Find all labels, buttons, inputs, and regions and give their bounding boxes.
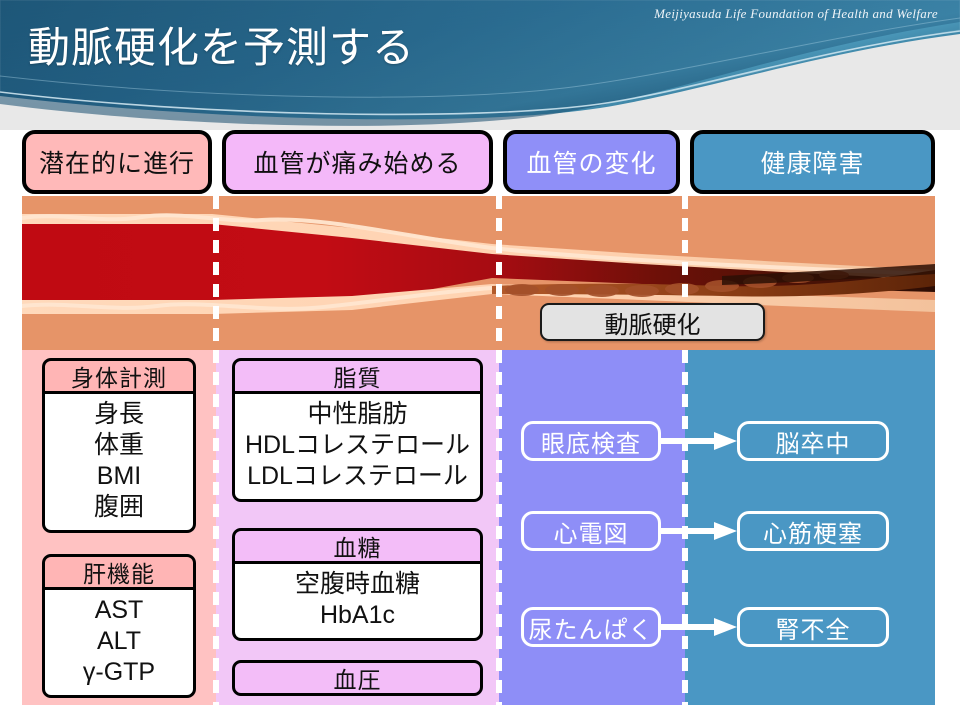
slide: 動脈硬化を予測する Meijiyasuda Life Foundation of… [0, 0, 960, 720]
group-title-body-measurement: 身体計測 [42, 358, 196, 394]
phase-divider-2 [496, 196, 502, 705]
group-body-measurement: 身体計測 身長 体重 BMI 腹囲 [42, 358, 196, 533]
page-title: 動脈硬化を予測する [28, 22, 415, 74]
group-blood-pressure: 血圧 [232, 660, 483, 696]
group-title-liver-function: 肝機能 [42, 554, 196, 590]
phase-box-health-damage[interactable]: 健康障害 [690, 130, 935, 194]
arrow-fundus-to-stroke [660, 429, 738, 453]
test-pill-urine-protein[interactable]: 尿たんぱく [521, 607, 661, 647]
organization-logo-text: Meijiyasuda Life Foundation of Health an… [654, 6, 938, 22]
disease-pill-renal-failure[interactable]: 腎不全 [737, 607, 889, 647]
phase-box-latent-progress[interactable]: 潜在的に進行 [22, 130, 212, 194]
arrow-ecg-to-infarction [660, 519, 738, 543]
phase-box-vessel-damage[interactable]: 血管が痛み始める [222, 130, 493, 194]
group-title-blood-pressure: 血圧 [232, 660, 483, 696]
group-items-lipids: 中性脂肪 HDLコレステロール LDLコレステロール [232, 394, 483, 502]
group-title-blood-sugar: 血糖 [232, 528, 483, 564]
group-liver-function: 肝機能 AST ALT γ-GTP [42, 554, 196, 698]
artery-illustration [22, 196, 935, 350]
list-item: 体重 [45, 430, 193, 461]
list-item: 腹囲 [45, 492, 193, 523]
list-item: BMI [45, 461, 193, 492]
group-lipids: 脂質 中性脂肪 HDLコレステロール LDLコレステロール [232, 358, 483, 502]
arrow-urine-to-renal-failure [660, 615, 738, 639]
group-blood-sugar: 血糖 空腹時血糖 HbA1c [232, 528, 483, 641]
test-pill-ecg[interactable]: 心電図 [521, 511, 661, 551]
list-item: 中性脂肪 [235, 399, 480, 430]
slide-banner: 動脈硬化を予測する Meijiyasuda Life Foundation of… [0, 0, 960, 130]
arteriosclerosis-callout: 動脈硬化 [540, 303, 765, 341]
phase-box-vessel-change[interactable]: 血管の変化 [503, 130, 680, 194]
list-item: HbA1c [235, 600, 480, 631]
group-items-liver-function: AST ALT γ-GTP [42, 590, 196, 698]
disease-pill-myocardial-infarction[interactable]: 心筋梗塞 [737, 511, 889, 551]
group-title-lipids: 脂質 [232, 358, 483, 394]
phase-divider-1 [213, 196, 219, 705]
list-item: HDLコレステロール [235, 430, 480, 461]
group-items-body-measurement: 身長 体重 BMI 腹囲 [42, 394, 196, 533]
list-item: AST [45, 595, 193, 626]
list-item: γ-GTP [45, 657, 193, 688]
test-pill-fundus-exam[interactable]: 眼底検査 [521, 421, 661, 461]
list-item: ALT [45, 626, 193, 657]
phase-divider-3 [682, 196, 688, 705]
disease-pill-stroke[interactable]: 脳卒中 [737, 421, 889, 461]
list-item: 身長 [45, 399, 193, 430]
list-item: 空腹時血糖 [235, 569, 480, 600]
group-items-blood-sugar: 空腹時血糖 HbA1c [232, 564, 483, 641]
list-item: LDLコレステロール [235, 461, 480, 492]
